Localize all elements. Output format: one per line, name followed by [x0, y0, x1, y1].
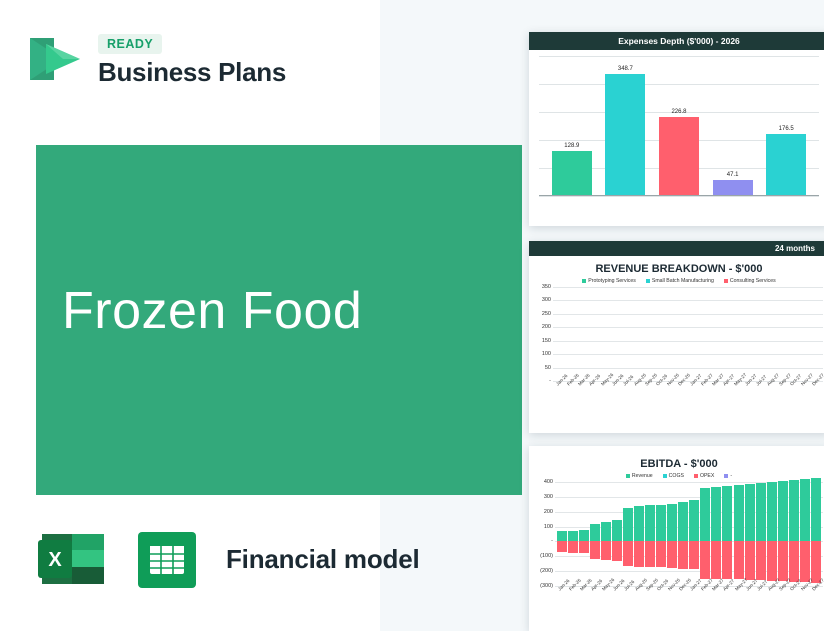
bar-segment	[678, 502, 688, 541]
bar	[713, 180, 753, 196]
stacked-bar	[756, 482, 766, 586]
bar-segment	[700, 541, 710, 578]
bar-segment	[689, 500, 699, 542]
hero-block: Frozen Food	[36, 145, 522, 495]
bar-segment	[601, 541, 611, 560]
bar-segment	[557, 541, 567, 551]
bar-negative	[601, 541, 611, 560]
stacked-bar	[789, 482, 799, 586]
bar-positive	[667, 504, 677, 541]
bar-positive	[778, 481, 788, 541]
bar-group: 128.9	[552, 56, 592, 196]
bar-negative	[811, 541, 821, 583]
bar-segment	[778, 481, 788, 541]
stacked-bar	[767, 482, 777, 586]
y-tick-label: 300	[542, 297, 551, 303]
bar-positive	[767, 482, 777, 541]
bar-segment	[645, 505, 655, 541]
y-tick-label: 300	[544, 494, 553, 500]
bar-negative	[745, 541, 755, 580]
bar-positive	[800, 479, 810, 541]
bar-segment	[756, 483, 766, 542]
bar-value-label: 128.9	[564, 143, 579, 149]
bar	[605, 74, 645, 196]
chart-card-expenses: Expenses Depth ($'000) - 2026 128.9348.7…	[529, 32, 824, 226]
ebitda-legend: RevenueCOGSOPEX-	[529, 473, 824, 479]
bar-positive	[789, 480, 799, 541]
bar-segment	[700, 488, 710, 542]
bar-negative	[700, 541, 710, 578]
stacked-bar	[700, 482, 710, 586]
y-tick-label: 400	[544, 479, 553, 485]
y-tick-label: (300)	[540, 583, 553, 589]
stacked-bar	[568, 482, 578, 586]
bar-value-label: 47.1	[727, 172, 739, 178]
bar-segment	[745, 484, 755, 542]
bar-segment	[745, 541, 755, 580]
bar-segment	[767, 482, 777, 541]
bar-negative	[778, 541, 788, 581]
ebitda-x-labels: Jan-26Feb-26Mar-26Apr-26May-26Jun-26Jul-…	[555, 586, 823, 612]
bar-negative	[734, 541, 744, 579]
bar-segment	[667, 541, 677, 568]
legend-item: COGS	[663, 473, 684, 479]
bar-group: 348.7	[605, 56, 645, 196]
stacked-bar	[667, 482, 677, 586]
stacked-bar	[689, 482, 699, 586]
bar-segment	[689, 541, 699, 569]
svg-text:X: X	[48, 549, 62, 571]
bar-segment	[623, 541, 633, 566]
y-tick-label: -	[549, 378, 551, 384]
legend-item: OPEX	[694, 473, 714, 479]
stacked-bar	[811, 482, 821, 586]
bar-segment	[734, 485, 744, 542]
stacked-bar	[645, 482, 655, 586]
stacked-bar	[634, 482, 644, 586]
y-tick-label: (200)	[540, 568, 553, 574]
bar-segment	[623, 508, 633, 541]
bar-negative	[623, 541, 633, 566]
bar-positive	[745, 484, 755, 542]
bar-positive	[645, 505, 655, 541]
bar-negative	[667, 541, 677, 568]
bar-segment	[590, 541, 600, 559]
play-triangle-icon	[24, 28, 86, 90]
bar-positive	[711, 487, 721, 542]
bar-positive	[700, 488, 710, 542]
bar-segment	[601, 522, 611, 542]
y-tick-label: 200	[542, 324, 551, 330]
bar-negative	[656, 541, 666, 567]
stacked-bar	[601, 482, 611, 586]
legend-label: Small Batch Manufacturing	[652, 278, 714, 284]
bar-segment	[722, 541, 732, 579]
bar-negative	[579, 541, 589, 552]
bar-group: 176.5	[766, 56, 806, 196]
y-tick-label: 100	[544, 524, 553, 530]
bar	[552, 151, 592, 196]
bar-segment	[579, 541, 589, 552]
bar-negative	[767, 541, 777, 581]
bar-negative	[722, 541, 732, 579]
bar-segment	[612, 520, 622, 541]
bar-positive	[568, 531, 578, 541]
bar-negative	[645, 541, 655, 567]
bar-group: 47.1	[713, 56, 753, 196]
bar-negative	[634, 541, 644, 567]
chart-card-ebitda: EBITDA - $'000 RevenueCOGSOPEX- 40030020…	[529, 446, 824, 631]
expenses-chart-title: Expenses Depth ($'000) - 2026	[529, 32, 824, 50]
stacked-bar	[800, 482, 810, 586]
ebitda-plot: 400300200100-(100)(200)(300) Jan-26Feb-2…	[531, 482, 823, 612]
bar-positive	[601, 522, 611, 542]
bar-group: 226.8	[659, 56, 699, 196]
bar-positive	[612, 520, 622, 541]
brand-text: READY Business Plans	[98, 34, 286, 85]
revenue-card-subheader: 24 months	[529, 241, 824, 256]
google-sheets-icon	[132, 524, 202, 594]
legend-label: -	[730, 473, 732, 479]
format-icons-row: X Financial model	[36, 520, 420, 598]
revenue-plot: 35030025020015010050- Jan-26Feb-26Mar-26…	[531, 287, 823, 405]
bar-positive	[689, 500, 699, 542]
y-tick-label: 100	[542, 351, 551, 357]
bar-segment	[800, 479, 810, 541]
y-tick-label: 200	[544, 509, 553, 515]
legend-item: Consulting Services	[724, 278, 776, 284]
bar-segment	[568, 541, 578, 552]
revenue-x-labels: Jan-26Feb-26Mar-26Apr-26May-26Jun-26Jul-…	[553, 381, 823, 405]
bar-segment	[811, 478, 821, 541]
bar-positive	[590, 524, 600, 542]
bar-segment	[789, 541, 799, 582]
bar	[766, 134, 806, 196]
legend-label: COGS	[669, 473, 684, 479]
y-tick-label: 250	[542, 311, 551, 317]
financial-model-label: Financial model	[226, 544, 420, 575]
bar-segment	[800, 541, 810, 582]
legend-swatch	[582, 279, 586, 283]
bar-negative	[557, 541, 567, 551]
stacked-bar	[745, 482, 755, 586]
bar-segment	[667, 504, 677, 541]
bar-segment	[811, 541, 821, 583]
stacked-bar	[623, 482, 633, 586]
y-tick-label: (100)	[540, 553, 553, 559]
bar-segment	[568, 531, 578, 541]
revenue-chart-title: REVENUE BREAKDOWN - $'000	[529, 263, 824, 275]
revenue-y-axis: 35030025020015010050-	[531, 287, 553, 381]
bar-segment	[678, 541, 688, 569]
legend-swatch	[646, 279, 650, 283]
revenue-bars	[553, 287, 823, 381]
y-tick-label: -	[551, 538, 553, 544]
legend-swatch	[663, 474, 667, 478]
bar-segment	[656, 505, 666, 541]
bar-positive	[656, 505, 666, 541]
stacked-bar	[778, 482, 788, 586]
stacked-bar	[722, 482, 732, 586]
legend-swatch	[724, 279, 728, 283]
y-tick-label: 50	[545, 365, 551, 371]
ebitda-chart-title: EBITDA - $'000	[529, 458, 824, 470]
microsoft-excel-icon: X	[36, 520, 114, 598]
bar-negative	[678, 541, 688, 569]
bar-segment	[590, 524, 600, 542]
y-tick-label: 150	[542, 338, 551, 344]
bar-positive	[756, 483, 766, 542]
stacked-bar	[678, 482, 688, 586]
bar-positive	[634, 506, 644, 541]
page-title: Frozen Food	[62, 285, 362, 337]
ebitda-plot-area	[555, 482, 823, 586]
stacked-bar	[612, 482, 622, 586]
bar-segment	[711, 541, 721, 578]
legend-swatch	[724, 474, 728, 478]
bar-positive	[623, 508, 633, 541]
bar-negative	[568, 541, 578, 552]
stacked-bar	[579, 482, 589, 586]
brand-title: Business Plans	[98, 59, 286, 85]
bar-segment	[778, 541, 788, 581]
bar-segment	[767, 541, 777, 581]
legend-label: Prototyping Services	[588, 278, 636, 284]
stacked-bar	[590, 482, 600, 586]
stacked-bar	[557, 482, 567, 586]
bar-segment	[579, 530, 589, 541]
bar-positive	[811, 478, 821, 541]
bar-segment	[789, 480, 799, 541]
bar-positive	[722, 486, 732, 542]
bar-negative	[590, 541, 600, 559]
expenses-x-axis	[539, 195, 819, 196]
legend-label: Revenue	[632, 473, 653, 479]
ebitda-y-axis: 400300200100-(100)(200)(300)	[531, 482, 555, 586]
stacked-bar	[734, 482, 744, 586]
legend-label: Consulting Services	[730, 278, 776, 284]
bar-segment	[656, 541, 666, 567]
bar-negative	[800, 541, 810, 582]
bar	[659, 117, 699, 196]
gridline	[539, 196, 819, 197]
stacked-bar	[656, 482, 666, 586]
revenue-legend: Prototyping ServicesSmall Batch Manufact…	[529, 278, 824, 284]
bar-segment	[557, 531, 567, 541]
bar-negative	[689, 541, 699, 569]
ready-badge: READY	[98, 34, 162, 54]
bar-segment	[612, 541, 622, 561]
bar-segment	[645, 541, 655, 567]
bar-segment	[634, 541, 644, 567]
y-tick-label: 350	[542, 284, 551, 290]
bar-value-label: 348.7	[618, 66, 633, 72]
ebitda-bars	[555, 482, 823, 586]
stacked-bar	[711, 482, 721, 586]
bar-negative	[711, 541, 721, 578]
revenue-plot-area	[553, 287, 823, 381]
legend-label: OPEX	[700, 473, 714, 479]
chart-card-revenue: 24 months REVENUE BREAKDOWN - $'000 Prot…	[529, 241, 824, 433]
bar-value-label: 226.8	[671, 109, 686, 115]
bar-positive	[557, 531, 567, 541]
bar-segment	[734, 541, 744, 579]
legend-swatch	[694, 474, 698, 478]
bar-segment	[711, 487, 721, 542]
bar-value-label: 176.5	[779, 126, 794, 132]
bar-segment	[756, 541, 766, 580]
bar-segment	[722, 486, 732, 542]
legend-item: Revenue	[626, 473, 653, 479]
legend-swatch	[626, 474, 630, 478]
bar-positive	[678, 502, 688, 541]
bar-negative	[789, 541, 799, 582]
legend-item: -	[724, 473, 732, 479]
bar-positive	[734, 485, 744, 542]
bar-negative	[612, 541, 622, 561]
expenses-bars: 128.9348.7226.847.1176.5	[545, 56, 813, 196]
legend-item: Prototyping Services	[582, 278, 636, 284]
bar-segment	[634, 506, 644, 541]
brand-logo: READY Business Plans	[24, 28, 286, 90]
expenses-plot: 128.9348.7226.847.1176.5	[539, 56, 819, 212]
bar-positive	[579, 530, 589, 541]
bar-negative	[756, 541, 766, 580]
legend-item: Small Batch Manufacturing	[646, 278, 714, 284]
